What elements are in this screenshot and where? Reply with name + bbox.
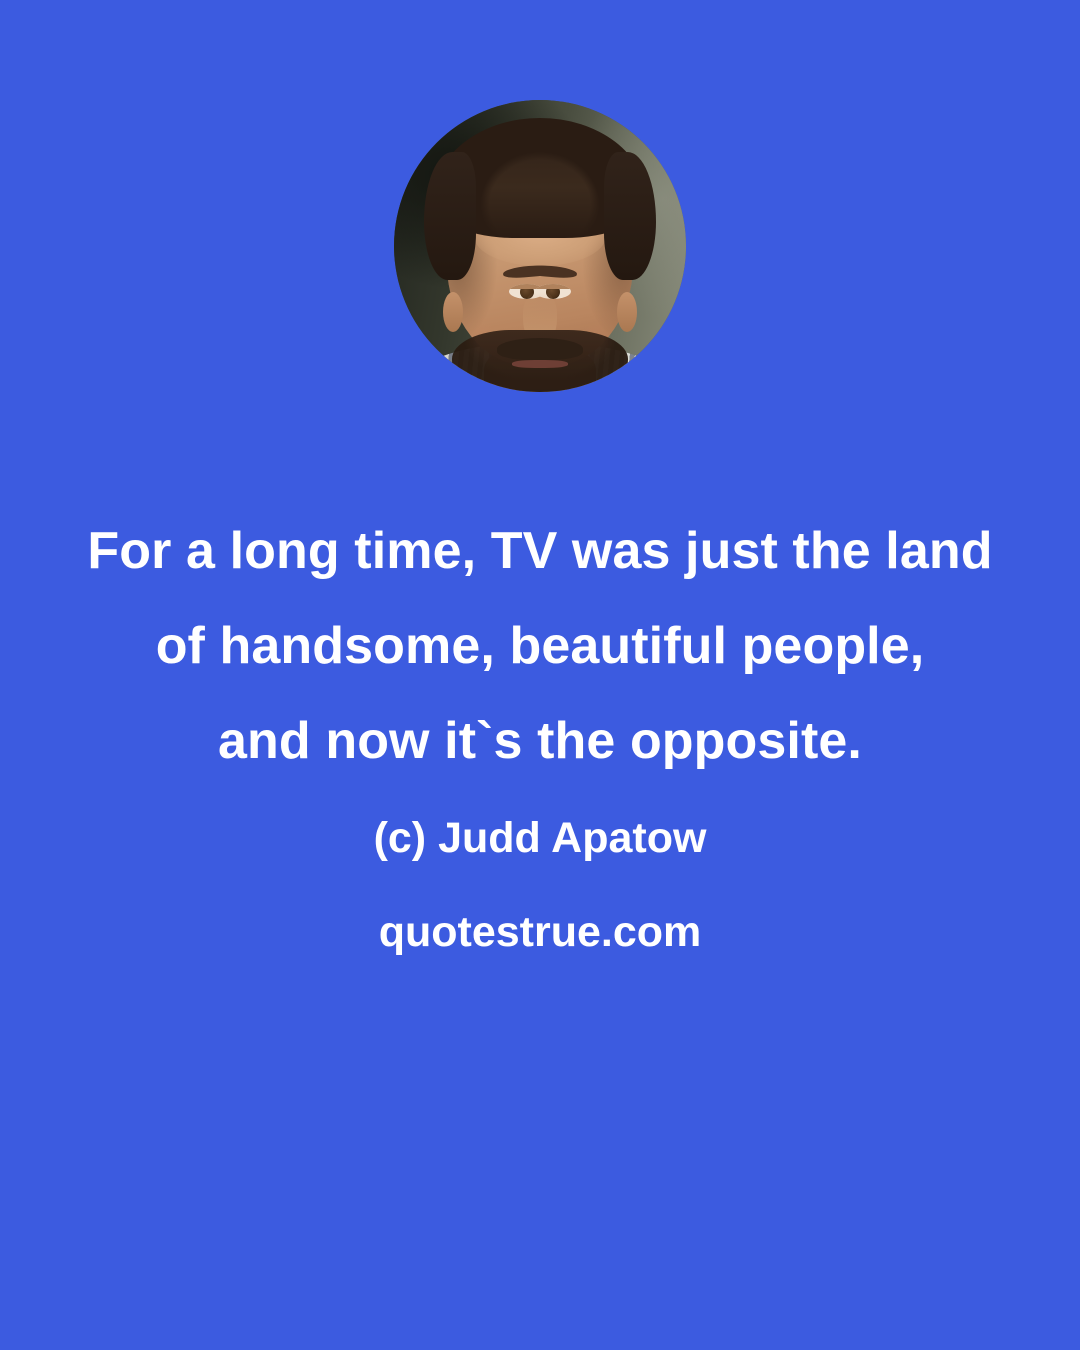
photo-mouth (512, 360, 568, 368)
avatar (394, 100, 686, 392)
quote-line: and now it`s the opposite. (0, 694, 1080, 789)
quote-line: For a long time, TV was just the land (0, 504, 1080, 599)
site-watermark: quotestrue.com (0, 906, 1080, 958)
quote-card: For a long time, TV was just the land of… (0, 0, 1080, 1350)
photo-ear-left (443, 292, 463, 332)
photo-ear-right (617, 292, 637, 332)
photo-hair-side-left (424, 152, 476, 280)
quote-text: For a long time, TV was just the land of… (0, 504, 1080, 789)
photo-eyelid-right (535, 284, 571, 289)
quote-attribution: (c) Judd Apatow (0, 812, 1080, 864)
avatar-photo-circle (394, 100, 686, 392)
photo-moustache (497, 338, 583, 360)
quote-line: of handsome, beautiful people, (0, 599, 1080, 694)
